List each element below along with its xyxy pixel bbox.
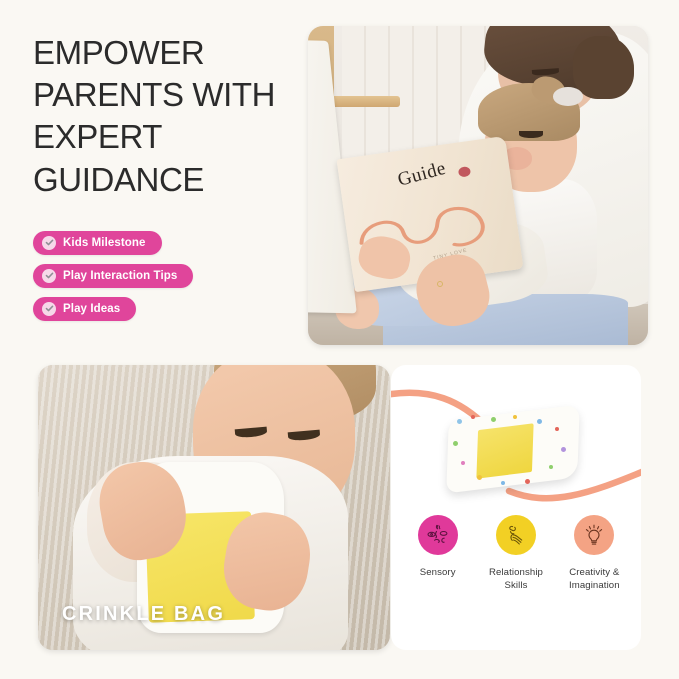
check-circle-icon: [42, 302, 56, 316]
fabric-dot: [561, 447, 566, 452]
product-yellow-patch: [476, 423, 533, 478]
feature-badge-list: Kids Milestone Play Interaction Tips Pla…: [33, 231, 193, 321]
badge-label: Play Ideas: [63, 303, 120, 315]
fabric-dot: [525, 479, 530, 484]
benefit-icon-row: Sensory Relationship Skills: [391, 515, 641, 592]
benefit-label: Creativity & Imagination: [562, 566, 627, 592]
fabric-dot: [453, 441, 458, 446]
fabric-dot: [461, 461, 465, 465]
fabric-dot: [477, 475, 482, 480]
benefit-label: Sensory: [420, 566, 456, 579]
fabric-dot: [457, 419, 462, 424]
fabric-dot: [549, 465, 553, 469]
benefit-label: Relationship Skills: [483, 566, 548, 592]
badge-label: Play Interaction Tips: [63, 270, 177, 282]
badge-play-interaction-tips[interactable]: Play Interaction Tips: [33, 264, 193, 288]
check-circle-icon: [42, 269, 56, 283]
badge-play-ideas[interactable]: Play Ideas: [33, 297, 136, 321]
page-title: EMPOWER PARENTS WITH EXPERT GUIDANCE: [33, 32, 295, 201]
benefit-sensory[interactable]: Sensory: [405, 515, 470, 592]
fabric-dot: [471, 415, 475, 419]
fabric-dot: [501, 481, 505, 485]
product-name-caption: CRINKLE BAG: [62, 603, 225, 626]
mother-hair-bun: [573, 36, 634, 100]
product-infographic: EMPOWER PARENTS WITH EXPERT GUIDANCE Kid…: [0, 0, 679, 679]
benefits-card: Sensory Relationship Skills: [391, 365, 641, 650]
lightbulb-icon: [574, 515, 614, 555]
hand-touch-icon: [496, 515, 536, 555]
lifestyle-photo-reading: Guide TINY LOVE: [308, 26, 648, 345]
book-title-dot: [458, 167, 471, 179]
lifestyle-photo-crinkle-bag: CRINKLE BAG: [38, 365, 390, 650]
fabric-dot: [491, 417, 496, 422]
badge-kids-milestone[interactable]: Kids Milestone: [33, 231, 162, 255]
check-circle-icon: [42, 236, 56, 250]
senses-icon: [418, 515, 458, 555]
baby-hair-bow: [553, 87, 584, 106]
fabric-dot: [537, 419, 542, 424]
benefit-relationship-skills[interactable]: Relationship Skills: [483, 515, 548, 592]
benefit-creativity-imagination[interactable]: Creativity & Imagination: [562, 515, 627, 592]
fabric-dot: [555, 427, 559, 431]
fabric-dot: [513, 415, 517, 419]
book-title-text: Guide: [396, 158, 449, 192]
coral-decorative-line: [391, 365, 641, 650]
badge-label: Kids Milestone: [63, 237, 146, 249]
